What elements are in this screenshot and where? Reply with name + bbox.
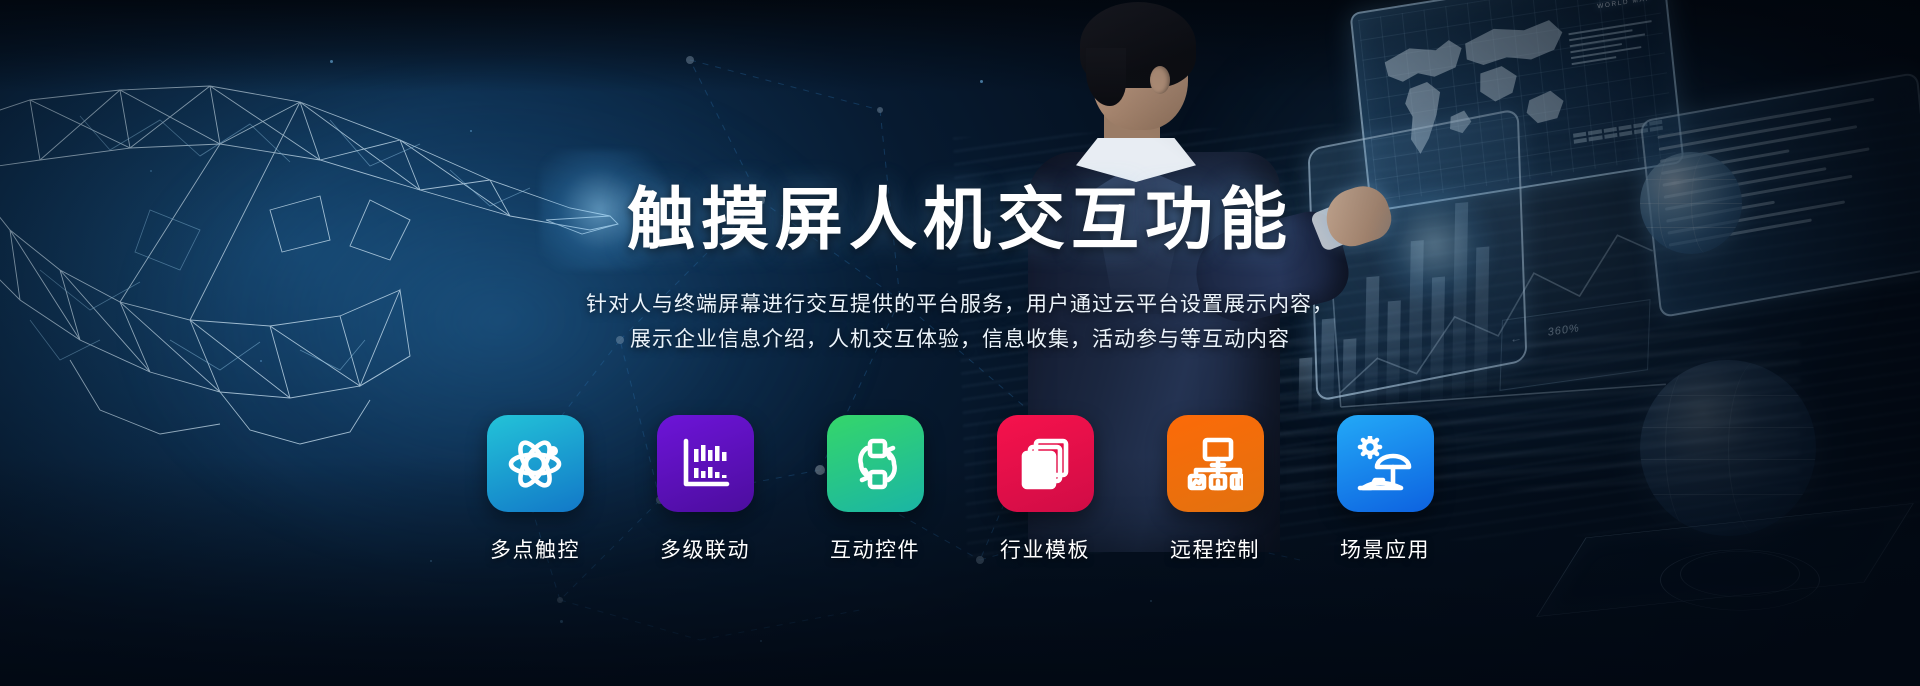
feature-tile-label: 远程控制 [1170,534,1260,564]
sync-widgets-icon [847,436,903,492]
banner-content: 触摸屏人机交互功能 针对人与终端屏幕进行交互提供的平台服务，用户通过云平台设置展… [0,0,1920,686]
feature-tile-background[interactable] [1337,415,1434,512]
subtitle-line-2: 展示企业信息介绍，人机交互体验，信息收集，活动参与等互动内容 [0,323,1920,358]
subtitle-line-1: 针对人与终端屏幕进行交互提供的平台服务，用户通过云平台设置展示内容， [0,288,1920,323]
feature-tile-background[interactable] [827,415,924,512]
feature-tile-label: 互动控件 [830,534,920,564]
feature-tile-1[interactable]: 多点触控 [487,415,584,564]
touchscreen-hmi-banner: ← 360% ASIA WORLD MAP [0,0,1920,686]
feature-tile-background[interactable] [997,415,1094,512]
bar-chart-icon [677,436,733,492]
feature-tile-4[interactable]: 行业模板 [997,415,1094,564]
page-subtitle: 针对人与终端屏幕进行交互提供的平台服务，用户通过云平台设置展示内容， 展示企业信… [0,288,1920,358]
atom-icon [507,436,563,492]
feature-tile-background[interactable] [487,415,584,512]
feature-tile-label: 多级联动 [660,534,750,564]
remote-network-icon [1187,436,1243,492]
feature-tile-row: 多点触控多级联动互动控件行业模板远程控制场景应用 [0,415,1920,564]
layered-pages-icon [1017,436,1073,492]
feature-tile-label: 多点触控 [490,534,580,564]
beach-scene-icon [1357,436,1413,492]
feature-tile-3[interactable]: 互动控件 [827,415,924,564]
feature-tile-5[interactable]: 远程控制 [1167,415,1264,564]
feature-tile-6[interactable]: 场景应用 [1337,415,1434,564]
feature-tile-label: 行业模板 [1000,534,1090,564]
feature-tile-background[interactable] [657,415,754,512]
feature-tile-background[interactable] [1167,415,1264,512]
feature-tile-2[interactable]: 多级联动 [657,415,754,564]
feature-tile-label: 场景应用 [1340,534,1430,564]
page-title: 触摸屏人机交互功能 [0,186,1920,254]
